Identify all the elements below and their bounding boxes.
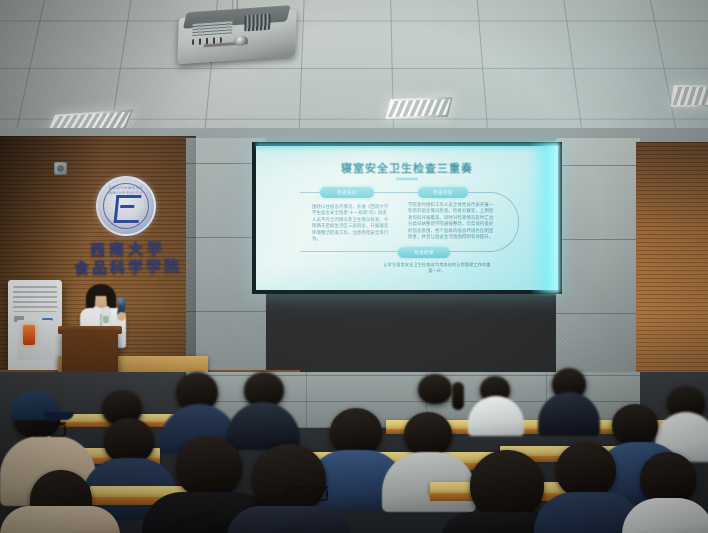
light-panel-right-icon [670, 85, 708, 107]
slide-content: 寝室安全卫生检查三重奏 检查安排 检查内容 检查结果 围绕以往宿舍内情况，开展《… [256, 146, 558, 290]
audience-head [556, 442, 616, 498]
projector-icon [177, 10, 296, 64]
slide-text-left: 围绕以往宿舍内情况，开展《西南大学学生宿舍安全隐患“十一假期”前》排查人员不齐全… [312, 204, 390, 242]
cap-brim [44, 412, 74, 420]
audience-head [470, 450, 544, 520]
logo-mark [114, 195, 142, 223]
lecture-hall-photo: SOUTHWEST UNIVERSITY 西南大学 食品科学学院 寝室安全卫生检… [0, 0, 708, 533]
audience-shoulders [0, 506, 120, 533]
projector-grille [244, 14, 270, 32]
audience-head [612, 404, 658, 446]
slide-pill-2: 检查内容 [418, 187, 468, 198]
wall-college-name: 食品科学学院 [68, 254, 189, 278]
air-conditioner-louvers [13, 286, 57, 312]
slide-text-right: 学院及时组织工作人员全体党员代表开展一轮新的宿舍情况检查。检查分寝室，上周检查照… [408, 202, 494, 240]
air-conditioner-display [23, 325, 35, 345]
audience-head [418, 374, 452, 404]
audience-shoulders [226, 506, 352, 533]
audience-head-with-glasses [252, 444, 326, 514]
audience-head [404, 412, 452, 456]
wall-panel-right [556, 138, 640, 388]
university-logo-icon: SOUTHWEST UNIVERSITY [96, 176, 156, 236]
logo-arc-text: SOUTHWEST UNIVERSITY [107, 185, 145, 195]
audience-head [176, 436, 242, 498]
slide-title: 寝室安全卫生检查三重奏 [256, 160, 558, 176]
light-panel-center-icon [385, 97, 453, 119]
projection-screen: 寝室安全卫生检查三重奏 检查安排 检查内容 检查结果 围绕以往宿舍内情况，开展《… [256, 146, 558, 290]
wall-panel-seams [556, 138, 640, 388]
slide-pill-3: 检查结果 [398, 247, 450, 258]
presenter-hand [117, 312, 126, 321]
audience-ponytail [452, 382, 464, 410]
slide-pill-1: 检查安排 [320, 187, 374, 198]
microphone-head [117, 297, 126, 305]
glasses-icon [286, 486, 328, 499]
glasses-icon [32, 422, 66, 433]
screen-glow-top [256, 143, 558, 151]
slide-title-underline [396, 178, 418, 180]
screen-glow-right [530, 143, 560, 293]
wall-switch-icon[interactable] [54, 162, 67, 175]
slide-text-bottom: 让学生宿舍安全卫生检查成为常态化的日常管理工作的重要一环。 [382, 262, 492, 275]
audience-head [330, 408, 382, 456]
wood-panel-right [636, 142, 708, 392]
